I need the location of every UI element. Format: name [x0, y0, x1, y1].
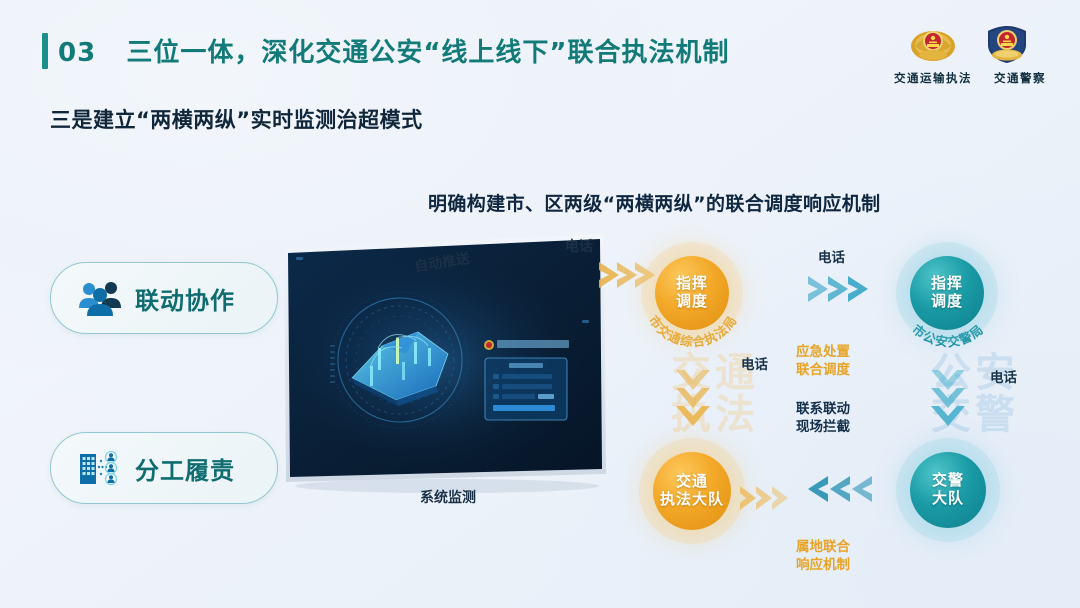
watermark-left-line2: 执法 [630, 394, 800, 436]
page-header: 03 三位一体，深化交通公安“线上线下”联合执法机制 [0, 0, 1080, 96]
pill-label-1: 联动协作 [135, 281, 235, 316]
arrow-bottom-orange-cluster [736, 480, 792, 520]
node-transport-enforcement-team[interactable]: 交通 执法大队 [653, 452, 731, 530]
local-response-line1: 属地联合 [796, 538, 850, 556]
watermark-left-line1: 交通 [630, 352, 800, 394]
node-1-line2: 调度 [676, 293, 708, 311]
page-title: 03 三位一体，深化交通公安“线上线下”联合执法机制 [58, 32, 730, 69]
badge-row [909, 22, 1031, 66]
watermark-public-security-traffic: 公安 交警 [890, 352, 1060, 436]
people-group-icon [77, 278, 123, 318]
police-emblem-blue-icon [983, 22, 1031, 66]
section-heading: 明确构建市、区两级“两横两纵”的联合调度响应机制 [428, 189, 881, 216]
monitor-display: 自动推送 系统监测 [282, 232, 642, 522]
pill-fengong-lvze[interactable]: 分工履责 [50, 432, 278, 504]
badge-label-transport: 交通运输执法 [894, 70, 972, 86]
arrow-left-vertical-down [672, 368, 714, 440]
label-local-joint-response: 属地联合 响应机制 [796, 538, 850, 574]
title-accent-bar [42, 33, 48, 69]
node-3-line1: 交通 [676, 473, 708, 491]
node-3-line2: 执法大队 [660, 491, 724, 509]
emergency-dispatch-line1: 应急处置 [796, 343, 850, 361]
liaison-line2: 现场拦截 [796, 418, 850, 436]
node-2-line1: 指挥 [931, 275, 963, 293]
watermark-right-line2: 交警 [890, 394, 1060, 436]
node-city-transport-command[interactable]: 指挥 调度 [655, 256, 729, 330]
node-city-police-command[interactable]: 指挥 调度 [910, 256, 984, 330]
label-phone-right-vertical: 电话 [990, 366, 1017, 386]
arrow-right-vertical-down [927, 368, 969, 440]
badge-label-police: 交通警察 [994, 70, 1046, 86]
arrow-top-horizontal [806, 272, 896, 306]
node-2-line2: 调度 [931, 293, 963, 311]
watermark-right-line1: 公安 [890, 352, 1060, 394]
label-emergency-dispatch: 应急处置 联合调度 [796, 343, 850, 379]
watermark-transport-enforcement: 交通 执法 [630, 352, 800, 436]
label-phone-monitor: 电话 [565, 236, 593, 256]
liaison-line1: 联系联动 [796, 400, 850, 418]
label-phone-left-vertical: 电话 [741, 353, 768, 373]
police-emblem-gold-icon [909, 22, 957, 66]
emergency-dispatch-line2: 联合调度 [796, 361, 850, 379]
badge-labels: 交通运输执法 交通警察 [894, 70, 1046, 86]
page-title-number: 03 [58, 38, 96, 68]
node-traffic-police-team[interactable]: 交警 大队 [910, 452, 986, 528]
pill-label-2: 分工履责 [135, 451, 235, 486]
local-response-line2: 响应机制 [796, 556, 850, 574]
node-1-line1: 指挥 [676, 275, 708, 293]
node-4-line1: 交警 [932, 472, 964, 490]
page-title-text: 三位一体，深化交通公安“线上线下”联合执法机制 [126, 38, 729, 68]
label-phone-top-horizontal: 电话 [818, 246, 845, 266]
label-system-monitor: 系统监测 [420, 487, 476, 507]
arrow-bottom-horizontal-left [800, 472, 900, 506]
page-subtitle: 三是建立“两横两纵”实时监测治超模式 [50, 104, 423, 134]
node-4-line2: 大队 [932, 490, 964, 508]
label-liaison-interception: 联系联动 现场拦截 [796, 400, 850, 436]
building-network-icon [77, 448, 123, 488]
agency-badges: 交通运输执法 交通警察 [894, 22, 1046, 86]
pill-lianyong-xiezuo[interactable]: 联动协作 [50, 262, 278, 334]
